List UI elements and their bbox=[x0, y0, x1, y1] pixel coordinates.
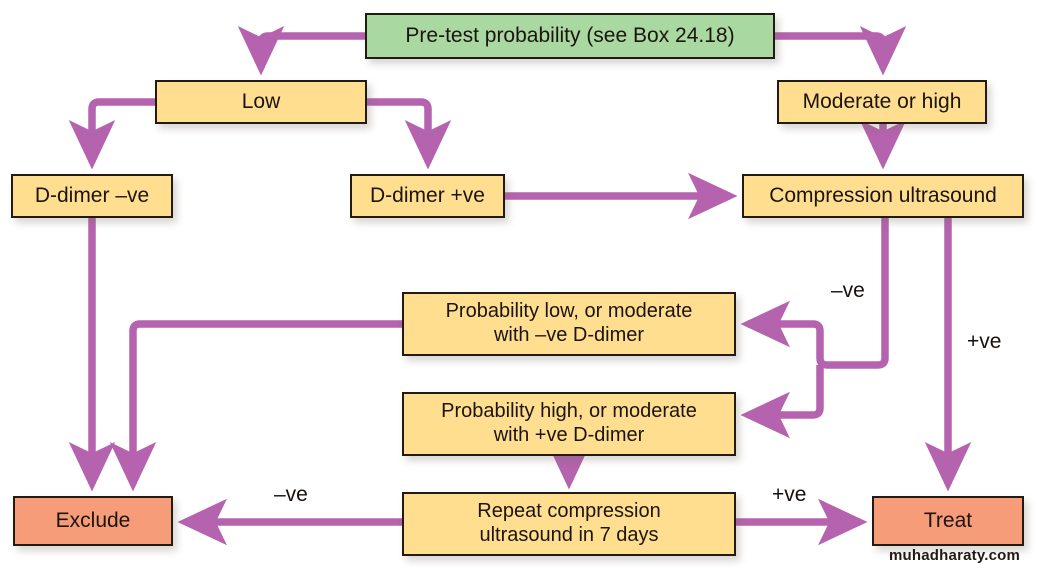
edge-pretest-to-moderate bbox=[775, 36, 883, 68]
edge-low-to-ddimer-pos bbox=[367, 102, 428, 162]
edge-us-neg-to-prob-high bbox=[748, 365, 820, 415]
node-moderate_high: Moderate or high bbox=[777, 80, 987, 124]
edge-prob-low-to-exclude bbox=[133, 324, 402, 484]
node-label-ddimer_pos: D-dimer +ve bbox=[362, 184, 493, 209]
edge-label-us-pos: +ve bbox=[967, 330, 1001, 354]
site-watermark: muhadharaty.com bbox=[889, 547, 1020, 564]
node-label-prob_low: Probability low, or moderatewith –ve D-d… bbox=[438, 300, 701, 347]
node-ddimer_neg: D-dimer –ve bbox=[11, 174, 173, 218]
node-label-prob_high: Probability high, or moderatewith +ve D-… bbox=[433, 400, 705, 447]
edge-pretest-to-low bbox=[261, 36, 365, 68]
node-label-repeat_us: Repeat compressionultrasound in 7 days bbox=[469, 500, 668, 547]
node-prob_high: Probability high, or moderatewith +ve D-… bbox=[402, 392, 736, 456]
flowchart-canvas: Pre-test probability (see Box 24.18)LowM… bbox=[0, 0, 1037, 568]
node-compression_us: Compression ultrasound bbox=[742, 174, 1024, 218]
node-ddimer_pos: D-dimer +ve bbox=[350, 174, 505, 218]
node-label-moderate_high: Moderate or high bbox=[795, 90, 970, 115]
edge-label-repeat-pos: +ve bbox=[772, 483, 806, 507]
node-label-exclude: Exclude bbox=[48, 509, 139, 534]
node-label-compression_us: Compression ultrasound bbox=[761, 184, 1005, 209]
node-treat: Treat bbox=[872, 496, 1024, 546]
node-repeat_us: Repeat compressionultrasound in 7 days bbox=[402, 492, 736, 556]
node-low: Low bbox=[155, 80, 367, 124]
node-pretest: Pre-test probability (see Box 24.18) bbox=[365, 13, 775, 59]
node-label-ddimer_neg: D-dimer –ve bbox=[27, 184, 157, 209]
edge-label-us-neg: –ve bbox=[831, 279, 865, 303]
node-label-treat: Treat bbox=[916, 509, 980, 534]
edge-label-repeat-neg: –ve bbox=[274, 483, 308, 507]
node-label-pretest: Pre-test probability (see Box 24.18) bbox=[397, 24, 742, 49]
node-label-low: Low bbox=[234, 90, 289, 115]
node-prob_low: Probability low, or moderatewith –ve D-d… bbox=[402, 292, 736, 356]
node-exclude: Exclude bbox=[13, 496, 173, 546]
edge-low-to-ddimer-neg bbox=[92, 102, 155, 162]
